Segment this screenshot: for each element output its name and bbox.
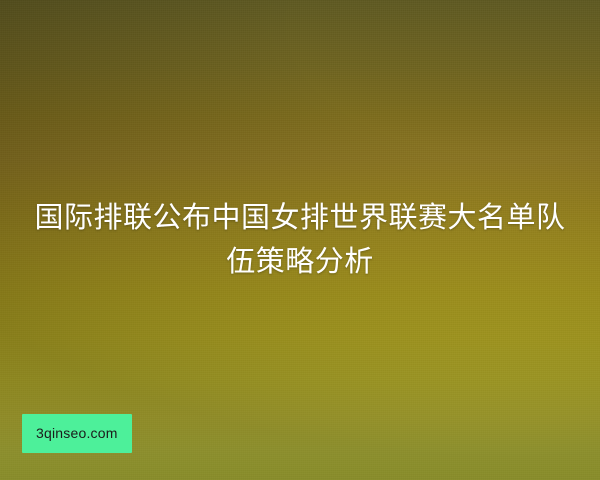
site-watermark: 3qinseo.com — [22, 414, 132, 453]
banner-headline: 国际排联公布中国女排世界联赛大名单队伍策略分析 — [0, 196, 600, 284]
banner-image: 国际排联公布中国女排世界联赛大名单队伍策略分析 3qinseo.com — [0, 0, 600, 480]
